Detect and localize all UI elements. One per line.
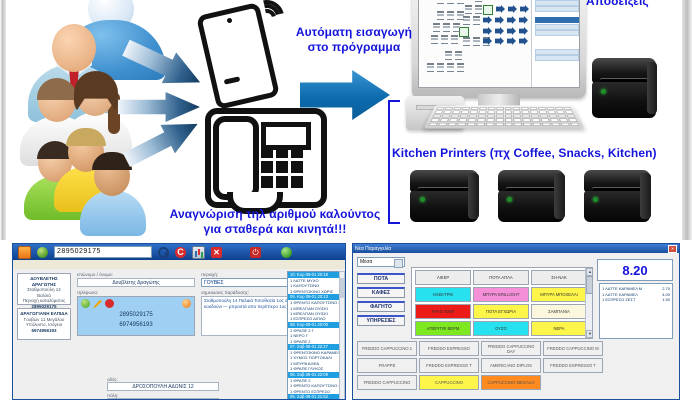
quick-product-button[interactable]: CAPPUCCINO [419, 375, 479, 390]
customers-group-icon [18, 0, 158, 240]
customer-card-phone: 6974956193 [20, 328, 68, 334]
quick-product-button[interactable]: FREDDO ESPRESSO T [419, 358, 479, 373]
category-button-drinks[interactable]: ΠΟΤΑ [357, 273, 405, 284]
new-order-titlebar: Νέα Παραγγελία ✕ [353, 244, 679, 253]
chart-icon[interactable] [192, 246, 205, 259]
product-button[interactable]: ΣΗ-ΝΑΚ [531, 270, 587, 285]
quick-product-button[interactable]: FREDDO ESPRESSO T [543, 358, 603, 373]
product-button[interactable]: ΚΡΑΣΙ ΕΜΦ [415, 304, 471, 319]
product-grid[interactable]: ΛΙΚΕΡΠΟΤΑ ΑΠΛΑΣΗ-ΝΑΚΗΛΕΚΤΡΙΚΜΠΥΡΑ ΕΡΔ LI… [411, 267, 593, 339]
customer-card[interactable]: ΔΡΑΓΩΓΙΑΝΗ ΕΛΠΙΔΑ Γουβών 11 Μεγάλου Υπόλ… [17, 308, 71, 340]
customer-card-name: ΔΡΑΓΩΓΙΑΝΗ ΕΛΠΙΔΑ [20, 311, 68, 317]
quick-product-button[interactable]: FREDDO CAPPUCCINO M [543, 341, 603, 356]
caller-id-line1: Αναγνώριση τηλ αριθμού καλούντος [150, 207, 400, 222]
receipt-line-price: 1.50 [662, 297, 670, 303]
product-button[interactable]: ΝΕΡΑ [531, 321, 587, 336]
delete-phone-icon[interactable] [105, 299, 114, 308]
new-order-title: Νέα Παραγγελία [355, 246, 391, 252]
customer-card-line2: Σταθμοπούλη 14 Βαλλιά [20, 287, 68, 298]
name-field-label: επώνυμο / όνομα: [77, 272, 113, 277]
scroll-thumb[interactable] [586, 276, 593, 294]
slide-root: Αυτόματη εισαγωγή στο πρόγραμμα Αναγνώρι… [0, 0, 692, 400]
thermal-printer-icon [592, 58, 656, 118]
delete-icon[interactable]: ✕ [211, 247, 222, 258]
receipts-label: Αποδείξεις [586, 0, 649, 8]
new-order-body: Μέσα ΠΟΤΑ ΚΑΦΕΣ ΦΑΓΗΤΟ ΥΠΗΡΕΣΙΕΣ ΛΙΚΕΡΠΟ… [353, 253, 679, 399]
product-grid-scrollbar[interactable]: ▲ ▼ [585, 268, 592, 338]
product-button[interactable]: ΠΟΤΑ ΑΠΛΑ [473, 270, 529, 285]
product-button[interactable]: ΗΛΕΚΤΡΙΚ [415, 287, 471, 302]
monitor-screen [418, 0, 580, 88]
status-ok-icon [281, 247, 292, 258]
auto-insert-label: Αυτόματη εισαγωγή στο πρόγραμμα [288, 25, 420, 55]
screen-side-panel [531, 0, 580, 88]
desk-phone-icon [205, 108, 315, 208]
caller-id-line2: για σταθερά και κινητά!!! [150, 222, 400, 237]
product-button[interactable]: ΣΑΜΠΑΝΙΑ [531, 304, 587, 319]
auto-insert-line2: στο πρόγραμμα [288, 40, 420, 55]
search-icon[interactable] [158, 247, 169, 258]
person-hair [66, 128, 106, 146]
history-item-row[interactable]: 1 ΦΡΕΝΤΟ ΚΑΠΟΥΤΣΙΝΟ 4 [288, 300, 344, 305]
category-button-food[interactable]: ΦΑΓΗΤΟ [357, 301, 405, 312]
quick-product-button[interactable]: FRAPPE [357, 358, 417, 373]
customer-card-line3: Υπόλοιπο, Ισόγειο [20, 322, 68, 328]
quick-product-button[interactable]: FREDDO CAPPUCCINO DAY [481, 341, 541, 356]
new-order-window[interactable]: Νέα Παραγγελία ✕ Μέσα ΠΟΤΑ ΚΑΦΕΣ ΦΑΓΗΤΟ … [352, 243, 680, 400]
history-item-row[interactable]: 1 ΦΡΕΝΤΟ ΚΑΠΟΥΤΣΙΝΟ 4 [288, 383, 344, 388]
room-select[interactable]: Μέσα [357, 257, 405, 267]
street-field[interactable]: ΔΡΟΣΟΠΟΥΛΗ ΑΔΩΝΙΣ 12 [107, 382, 219, 391]
receipt-line[interactable]: 1 ΕΣΠΡΕΣΟ ΖΕΣΤ1.50 [602, 297, 670, 303]
thermal-printer-icon [498, 170, 564, 222]
order-receipt-lines: 1 ΛΑΤΤΕ ΚΑΡΑΜΕΛ Μ2.701 ΛΑΤΤΕ ΚΑΡΑΜΕΛ4.00… [599, 283, 673, 339]
product-button[interactable]: ΠΟΤΑ ΕΓΧΩΡΙΑ [473, 304, 529, 319]
scroll-down-icon[interactable]: ▼ [586, 330, 593, 338]
customers-window[interactable]: 2895029175 C ✕ ⏻ ΔΟΥΒΛΕΤΗΣ ΔΡΑΓΩΤΗΣ Σταθ… [12, 243, 346, 400]
quick-product-button[interactable]: CAPPUCCINO MEGALO [481, 375, 541, 390]
screen-app-canvas [419, 0, 531, 88]
close-icon[interactable]: ✕ [668, 245, 677, 253]
power-icon[interactable]: ⏻ [250, 247, 261, 258]
customer-card-name: ΔΟΥΒΛΕΤΗΣ ΔΡΑΓΩΤΗΣ [20, 276, 68, 287]
right-edge-rail [682, 0, 692, 240]
globe-icon[interactable] [37, 247, 48, 258]
product-button[interactable]: ΜΠΥΡΑ ΕΡΔ LIGHT [473, 287, 529, 302]
customer-phone-1: 2895029175 [78, 310, 194, 320]
keyboard-icon [424, 105, 585, 128]
scroll-up-icon[interactable]: ▲ [586, 268, 593, 276]
area-label: περιοχή: [201, 272, 218, 277]
name-field[interactable]: Δουβλέτης Δραγώτης [77, 278, 195, 287]
category-button-services[interactable]: ΥΠΗΡΕΣΙΕΣ [357, 315, 405, 326]
phones-panel[interactable]: 2895029175 6974956193 [77, 296, 195, 336]
customer-phone-2: 6974956193 [78, 320, 194, 330]
left-edge-rail [0, 0, 6, 240]
delivery-notes-label: σημειώσεις παράδοσης: [201, 290, 249, 295]
caller-id-label: Αναγνώριση τηλ αριθμού καλούντος για στα… [150, 207, 400, 237]
quick-product-button[interactable]: FREDDO CAPPUCCINO [357, 375, 417, 390]
product-button[interactable]: ΑΠΕΡΙΤΙΦ ΒΕΡΜ [415, 321, 471, 336]
person-head [52, 24, 96, 72]
c-icon[interactable]: C [175, 247, 186, 258]
kitchen-bracket [388, 100, 400, 224]
product-button[interactable]: ΚΟΚΤΕΙΛ [415, 338, 471, 339]
quick-product-button[interactable]: FREDDO ESPRESSO [419, 341, 479, 356]
quick-product-button[interactable]: AMERICANO DIPLOS [481, 358, 541, 373]
desk-phone-keypad [261, 146, 303, 188]
customer-card[interactable]: ΔΟΥΒΛΕΤΗΣ ΔΡΑΓΩΤΗΣ Σταθμοπούλη 14 Βαλλιά… [17, 273, 71, 305]
room-select-value: Μέσα [360, 259, 372, 265]
order-total: 8.20 [597, 259, 673, 281]
software-screenshots-area: 2895029175 C ✕ ⏻ ΔΟΥΒΛΕΤΗΣ ΔΡΑΓΩΤΗΣ Σταθ… [0, 240, 692, 400]
order-history-list[interactable]: 10. Κυρ 09-01 20:191 ΛΑΤΤΕ ΜΥΧΟ1 ΚΑΠΟΥΤΣ… [287, 271, 345, 400]
phones-label: τηλέφωνα: [77, 290, 98, 295]
history-date-header[interactable]: 05. Σαβ 08-01 21:52 [288, 394, 344, 400]
thermal-printer-icon [410, 170, 478, 222]
receipt-line-name: 1 ΕΣΠΡΕΣΟ ΖΕΣΤ [602, 297, 635, 303]
customers-toolbar[interactable]: 2895029175 C ✕ ⏻ [13, 244, 345, 260]
infographic-area: Αυτόματη εισαγωγή στο πρόγραμμα Αναγνώρι… [0, 0, 692, 240]
product-button[interactable]: ΛΙΚΕΡ [415, 270, 471, 285]
category-button-coffee[interactable]: ΚΑΦΕΣ [357, 287, 405, 298]
monitor-bezel [412, 0, 586, 98]
phone-search-input[interactable]: 2895029175 [54, 246, 152, 258]
desk-phone-handset [213, 116, 259, 200]
add-phone-icon[interactable] [81, 299, 90, 308]
thermal-printer-icon [584, 170, 650, 222]
area-select-value: ΓΟΥΒΕΣ [204, 280, 224, 286]
customers-body: ΔΟΥΒΛΕΤΗΣ ΔΡΑΓΩΤΗΣ Σταθμοπούλη 14 Βαλλιά… [13, 269, 345, 399]
auto-insert-line1: Αυτόματη εισαγωγή [288, 25, 420, 40]
customer-card-icon[interactable] [18, 246, 31, 259]
kitchen-printers-label: Kitchen Printers (πχ Coffee, Snacks, Kit… [392, 146, 657, 160]
product-button[interactable]: ΟΥΖΟ [473, 321, 529, 336]
person-body [80, 190, 146, 236]
history-scrollbar[interactable] [339, 271, 345, 400]
call-icon[interactable] [182, 299, 191, 308]
chevron-down-icon[interactable] [394, 259, 403, 268]
product-button[interactable]: ΜΠΥΡΑ ΜΠΟΧΕΛΑΙ [531, 287, 587, 302]
edit-icon[interactable] [93, 299, 102, 308]
quick-product-button[interactable]: FREDDO CAPPUCCINO 1 [357, 341, 417, 356]
